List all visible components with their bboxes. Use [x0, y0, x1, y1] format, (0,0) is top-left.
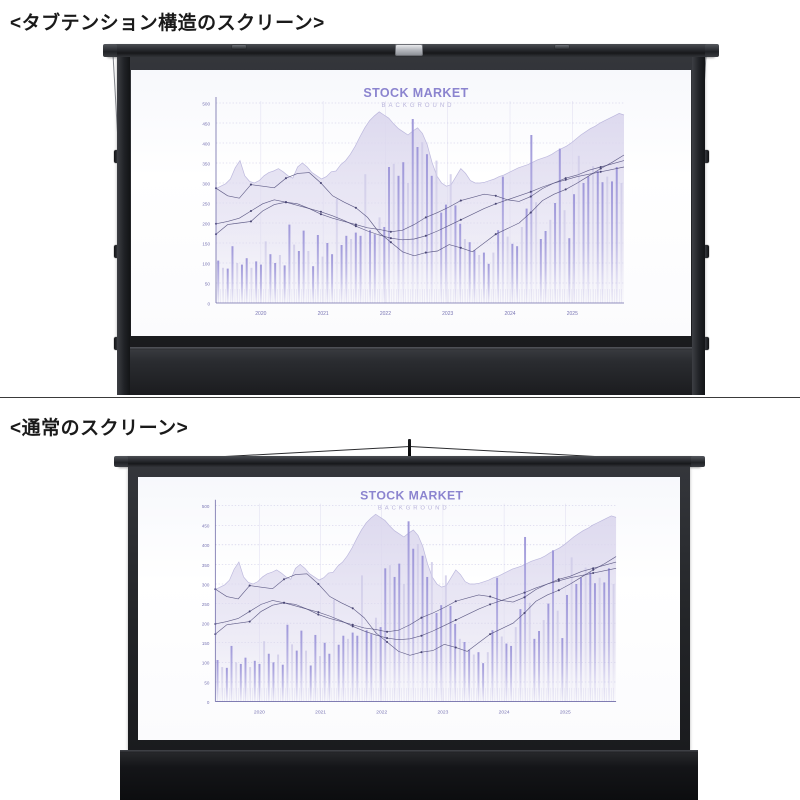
svg-text:100: 100 [202, 261, 210, 266]
normal-screen-top-bar [118, 456, 701, 467]
svg-text:500: 500 [202, 101, 210, 106]
chart-content: 0501001502002503003504004505002020202120… [202, 86, 624, 317]
svg-text:150: 150 [202, 641, 210, 646]
svg-text:2022: 2022 [380, 311, 391, 317]
top-bar-cap-right [705, 44, 719, 57]
stock-market-chart-tab-tension: 0501001502002503003504004505002020202120… [178, 85, 628, 330]
svg-text:0: 0 [207, 301, 210, 306]
svg-text:2020: 2020 [254, 709, 265, 715]
section-divider [0, 397, 800, 398]
normal-top-bar-cap-left [114, 456, 128, 467]
top-bar-cap-left [103, 44, 117, 57]
svg-text:2021: 2021 [315, 709, 326, 715]
top-mount-tab-right [555, 45, 569, 49]
svg-text:2020: 2020 [255, 311, 266, 317]
chart-content: 0501001502002503003504004505002020202120… [202, 489, 616, 716]
svg-text:400: 400 [202, 141, 210, 146]
svg-text:2022: 2022 [376, 709, 387, 715]
screen-right-post [692, 57, 705, 395]
chart-svg-normal: 0501001502002503003504004505002020202120… [178, 488, 620, 728]
chart-svg: 0501001502002503003504004505002020202120… [178, 85, 628, 330]
svg-text:50: 50 [205, 281, 211, 286]
svg-text:350: 350 [202, 563, 210, 568]
stock-market-chart-normal: 0501001502002503003504004505002020202120… [178, 488, 620, 728]
svg-text:200: 200 [202, 221, 210, 226]
section-title-normal: <通常のスクリーン> [10, 413, 188, 440]
svg-text:450: 450 [202, 524, 210, 529]
page-root: <タブテンション構造のスクリーン> 050100150200250 [0, 0, 800, 800]
normal-screen-base-casing [120, 750, 698, 800]
svg-text:2025: 2025 [560, 709, 571, 715]
screen-pull-handle[interactable] [395, 44, 423, 56]
svg-text:2023: 2023 [442, 311, 453, 317]
svg-text:0: 0 [207, 700, 210, 705]
svg-text:2024: 2024 [504, 311, 515, 317]
svg-text:2024: 2024 [499, 709, 510, 715]
svg-text:450: 450 [202, 121, 210, 126]
svg-text:100: 100 [202, 661, 210, 666]
svg-text:BACKGROUND: BACKGROUND [378, 506, 450, 512]
svg-text:400: 400 [202, 543, 210, 548]
top-mount-tab-left [232, 45, 246, 49]
screen-left-post [117, 57, 130, 395]
normal-base-top-lip [120, 750, 698, 753]
hanging-hook-pin [408, 439, 411, 457]
svg-text:250: 250 [202, 201, 210, 206]
svg-text:2021: 2021 [318, 311, 329, 317]
svg-text:BACKGROUND: BACKGROUND [381, 103, 454, 109]
svg-text:200: 200 [202, 622, 210, 627]
svg-text:STOCK MARKET: STOCK MARKET [360, 489, 463, 503]
svg-text:300: 300 [202, 582, 210, 587]
screen-base-casing [117, 347, 705, 395]
svg-text:2025: 2025 [567, 311, 578, 317]
svg-text:STOCK MARKET: STOCK MARKET [363, 86, 468, 100]
svg-text:350: 350 [202, 161, 210, 166]
svg-text:50: 50 [204, 680, 210, 685]
svg-text:150: 150 [202, 241, 210, 246]
svg-text:2023: 2023 [437, 709, 448, 715]
normal-top-bar-cap-right [691, 456, 705, 467]
base-top-lip [117, 347, 705, 350]
svg-text:250: 250 [202, 602, 210, 607]
svg-text:300: 300 [202, 181, 210, 186]
svg-text:500: 500 [202, 504, 210, 509]
section-title-tab-tension: <タブテンション構造のスクリーン> [10, 8, 325, 35]
